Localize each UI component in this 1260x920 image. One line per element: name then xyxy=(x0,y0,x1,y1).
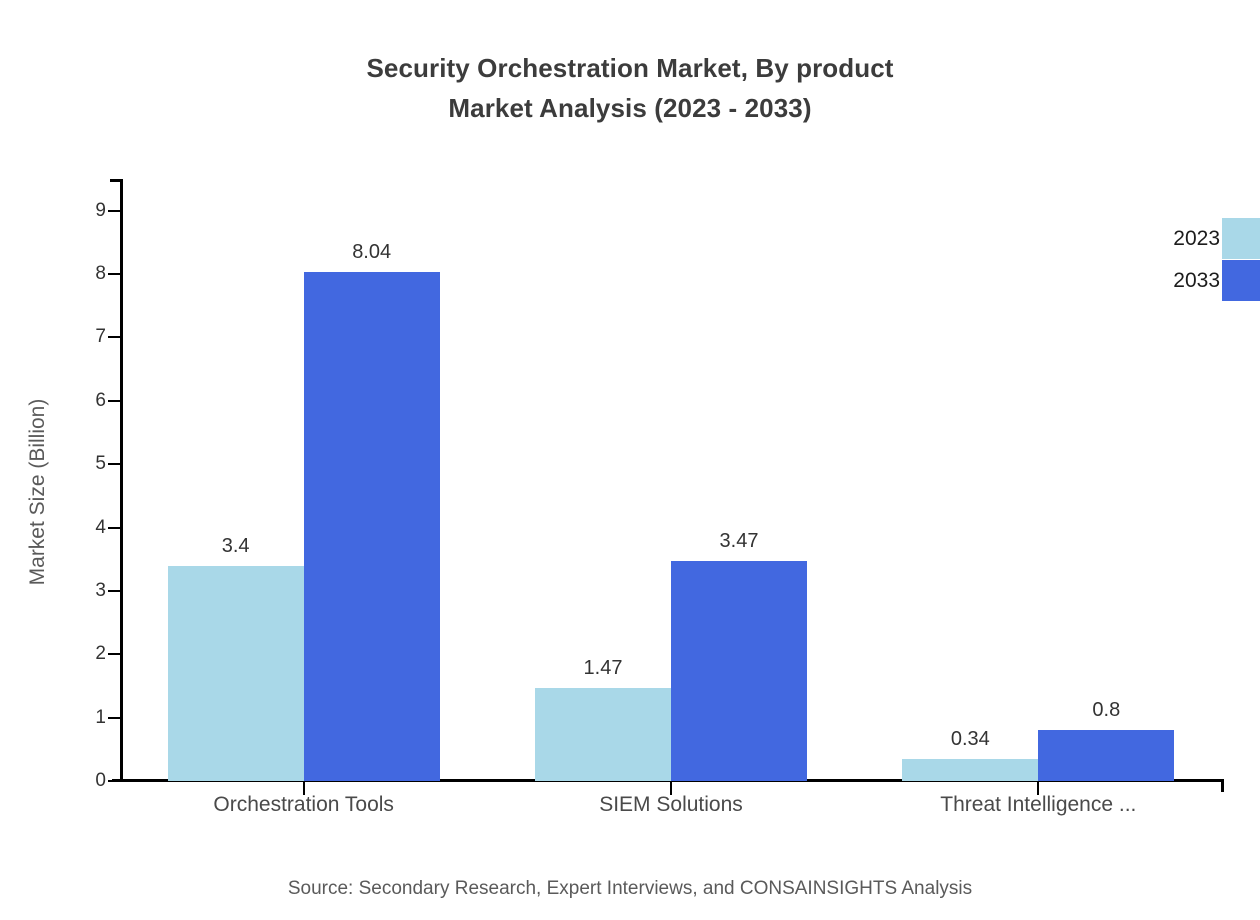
legend-label: 2023 xyxy=(1100,218,1220,259)
y-axis-tick-label: 5 xyxy=(66,453,106,475)
legend-item-2023[interactable]: 2023 xyxy=(1100,218,1260,259)
bar-chart-figure: Security Orchestration Market, By produc… xyxy=(0,0,1260,920)
x-axis-category-label: Orchestration Tools xyxy=(134,793,474,817)
legend: 20232033 xyxy=(1100,218,1260,308)
x-axis-end-cap-tick xyxy=(1221,779,1224,792)
y-axis-tick-label: 3 xyxy=(66,580,106,602)
chart-title: Security Orchestration Market, By produc… xyxy=(0,48,1260,128)
x-axis-category-label: Threat Intelligence ... xyxy=(868,793,1208,817)
source-note: Source: Secondary Research, Expert Inter… xyxy=(0,878,1260,900)
y-axis-spine xyxy=(120,179,123,782)
y-axis-tick xyxy=(108,653,122,655)
y-axis-tick-label: 6 xyxy=(66,390,106,412)
y-axis-tick-label: 4 xyxy=(66,517,106,539)
bar-value-label: 0.34 xyxy=(900,728,1040,751)
y-axis-tick-label: 8 xyxy=(66,263,106,285)
y-axis-tick xyxy=(108,400,122,402)
legend-item-2033[interactable]: 2033 xyxy=(1100,260,1260,301)
bar-value-label: 1.47 xyxy=(533,657,673,680)
y-axis-tick xyxy=(108,590,122,592)
bar-2033[interactable] xyxy=(304,272,440,781)
bar-value-label: 8.04 xyxy=(302,241,442,264)
y-axis-tick xyxy=(108,273,122,275)
y-axis-tick-label: 1 xyxy=(66,707,106,729)
bar-2023[interactable] xyxy=(535,688,671,781)
x-axis-category-label: SIEM Solutions xyxy=(501,793,841,817)
bar-2023[interactable] xyxy=(902,759,1038,781)
y-axis-tick-label: 2 xyxy=(66,643,106,665)
y-axis-tick xyxy=(108,210,122,212)
y-axis-tick-label: 9 xyxy=(66,200,106,222)
bar-value-label: 3.4 xyxy=(166,535,306,558)
bar-2023[interactable] xyxy=(168,566,304,781)
y-axis-tick-label: 7 xyxy=(66,326,106,348)
chart-title-line-2: Market Analysis (2023 - 2033) xyxy=(0,88,1260,128)
bar-2033[interactable] xyxy=(671,561,807,781)
chart-title-line-1: Security Orchestration Market, By produc… xyxy=(366,53,893,83)
legend-label: 2033 xyxy=(1100,260,1220,301)
bar-value-label: 0.8 xyxy=(1036,699,1176,722)
y-axis-tick xyxy=(108,463,122,465)
y-axis-tick xyxy=(108,717,122,719)
y-axis-tick xyxy=(108,336,122,338)
bar-value-label: 3.47 xyxy=(669,530,809,553)
legend-swatch xyxy=(1222,260,1260,301)
y-axis-top-cap-tick xyxy=(110,179,123,182)
legend-swatch xyxy=(1222,218,1260,259)
y-axis-tick xyxy=(108,780,122,782)
y-axis-tick-label: 0 xyxy=(66,770,106,792)
y-axis-tick xyxy=(108,527,122,529)
bar-2033[interactable] xyxy=(1038,730,1174,781)
y-axis-title: Market Size (Billion) xyxy=(26,232,50,752)
